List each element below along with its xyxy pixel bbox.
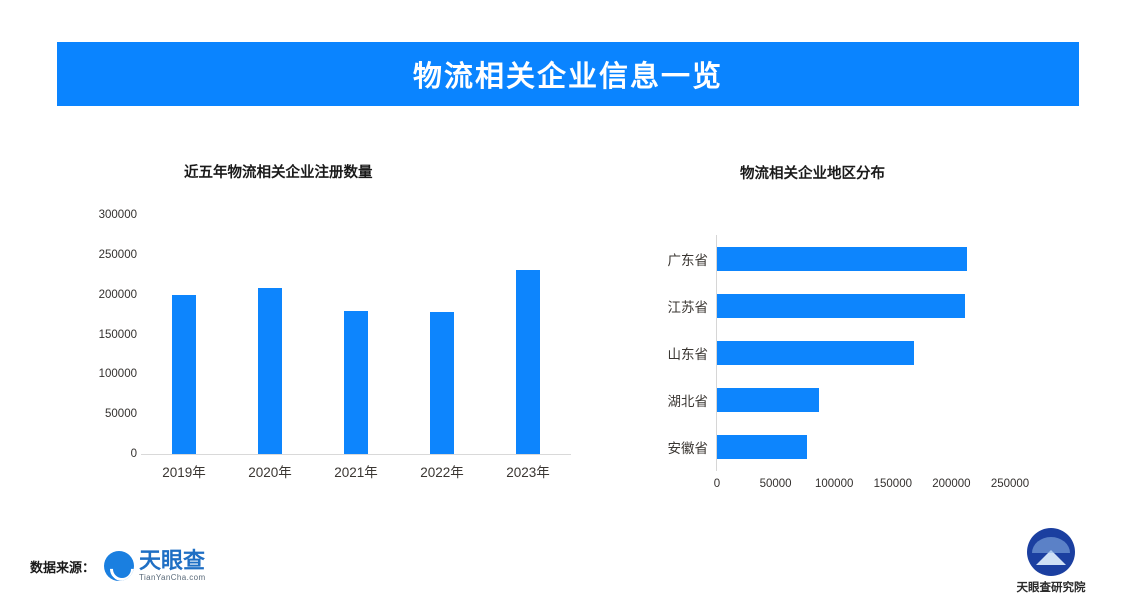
bar-region (717, 294, 965, 318)
x-axis-category-label: 2020年 (248, 461, 292, 481)
x-axis-category-label: 2023年 (506, 461, 550, 481)
tianyancha-eye-icon (104, 551, 134, 581)
chart-title-registrations: 近五年物流相关企业注册数量 (184, 161, 373, 182)
bar-region (717, 388, 819, 412)
chart-panel-registrations: 近五年物流相关企业注册数量 05000010000015000020000025… (60, 140, 580, 510)
y-axis-province-label: 广东省 (668, 249, 709, 269)
y-axis-province-label: 山东省 (668, 343, 709, 363)
bar-registrations (258, 288, 282, 455)
vertical-bar-plot: 050000100000150000200000250000300000 201… (141, 215, 571, 455)
bar-region (717, 247, 967, 271)
y-axis-tick-label: 150000 (99, 329, 137, 341)
y-axis-tick-labels: 050000100000150000200000250000300000 (77, 215, 137, 455)
institute-name: 天眼查研究院 (1017, 579, 1086, 595)
x-axis-line (141, 454, 571, 455)
x-axis-category-labels: 2019年2020年2021年2022年2023年 (141, 461, 571, 483)
x-axis-category-label: 2019年 (162, 461, 206, 481)
x-axis-tick-label: 0 (714, 478, 720, 490)
institute-logo: 天眼查研究院 (1003, 528, 1099, 595)
tianyancha-logo: 天眼查 TianYanCha.com (104, 550, 206, 582)
tianyancha-name-cn: 天眼查 (139, 550, 206, 572)
y-axis-province-labels: 广东省江苏省山东省湖北省安徽省 (612, 235, 708, 471)
bar-registrations (344, 311, 368, 454)
horizontal-bars-group (717, 235, 1010, 471)
x-axis-tick-label: 150000 (874, 478, 912, 490)
y-axis-tick-label: 250000 (99, 249, 137, 261)
y-axis-tick-label: 200000 (99, 289, 137, 301)
infographic-page: 物流相关企业信息一览 近五年物流相关企业注册数量 050000100000150… (0, 0, 1136, 613)
y-axis-province-label: 安徽省 (668, 437, 709, 457)
x-axis-tick-label: 250000 (991, 478, 1029, 490)
title-banner: 物流相关企业信息一览 (57, 42, 1079, 106)
tianyancha-wordmark: 天眼查 TianYanCha.com (139, 550, 206, 582)
data-source-label: 数据来源： (30, 557, 95, 576)
x-axis-tick-label: 50000 (760, 478, 792, 490)
y-axis-tick-label: 300000 (99, 209, 137, 221)
y-axis-tick-label: 100000 (99, 368, 137, 380)
x-axis-category-label: 2021年 (334, 461, 378, 481)
y-axis-tick-label: 50000 (105, 408, 137, 420)
bar-registrations (516, 270, 540, 454)
y-axis-province-label: 湖北省 (668, 390, 709, 410)
bar-registrations (430, 312, 454, 454)
bar-region (717, 435, 807, 459)
data-source-footer: 数据来源： 天眼查 TianYanCha.com (30, 550, 206, 582)
x-axis-tick-label: 100000 (815, 478, 853, 490)
page-title: 物流相关企业信息一览 (413, 53, 723, 95)
y-axis-tick-label: 0 (131, 448, 137, 460)
x-axis-tick-label: 200000 (932, 478, 970, 490)
bar-region (717, 341, 914, 365)
chart-title-regions: 物流相关企业地区分布 (740, 162, 885, 183)
horizontal-bar-plot: 广东省江苏省山东省湖北省安徽省 050000100000150000200000… (716, 235, 1010, 471)
bar-registrations (172, 295, 196, 454)
chart-panel-regions: 物流相关企业地区分布 广东省江苏省山东省湖北省安徽省 0500001000001… (600, 140, 1090, 510)
tianyancha-name-en: TianYanCha.com (139, 574, 206, 582)
institute-emblem-icon (1027, 528, 1075, 576)
x-axis-tick-labels: 050000100000150000200000250000 (716, 478, 1010, 498)
y-axis-province-label: 江苏省 (668, 296, 709, 316)
vertical-bars-group (141, 215, 571, 454)
x-axis-category-label: 2022年 (420, 461, 464, 481)
